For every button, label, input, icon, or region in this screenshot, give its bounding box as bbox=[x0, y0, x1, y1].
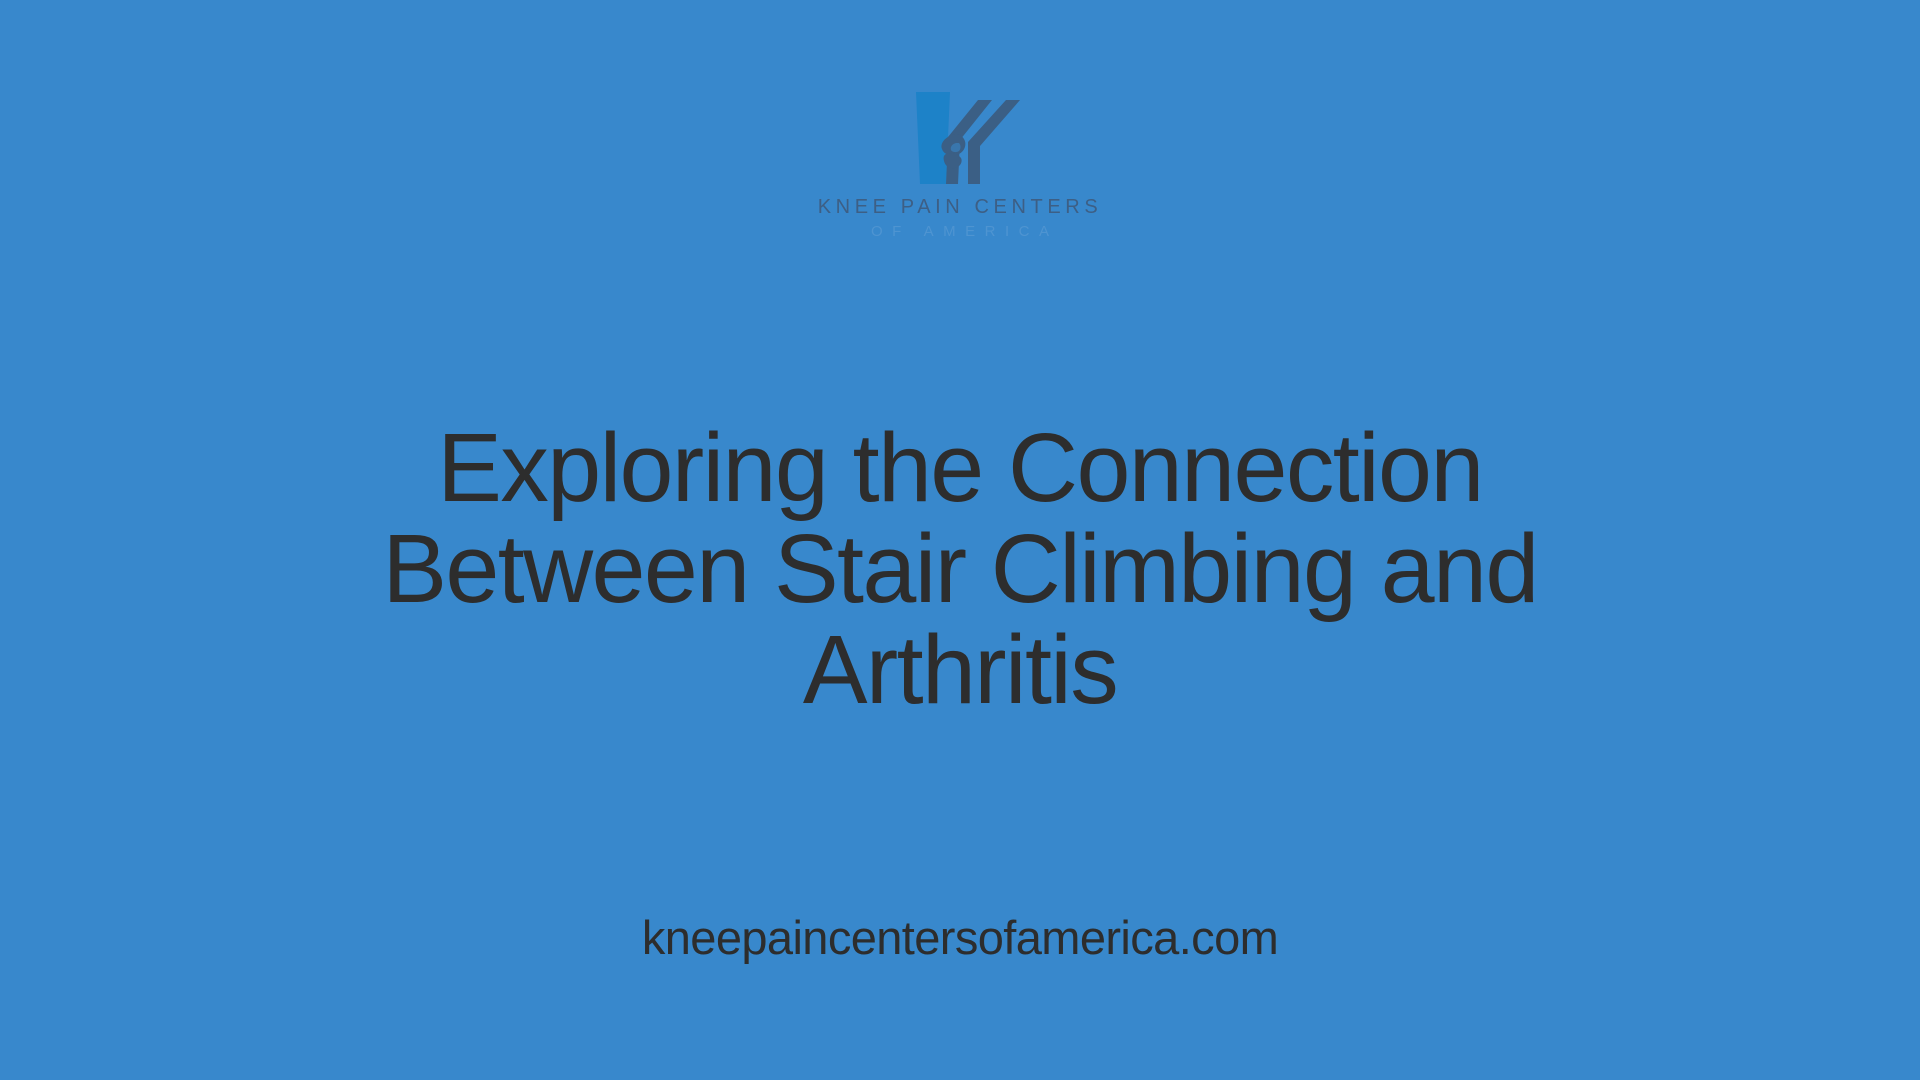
footer-url-container: kneepaincentersofamerica.com bbox=[0, 912, 1920, 964]
page-title-container: Exploring the Connection Between Stair C… bbox=[0, 418, 1920, 721]
website-url[interactable]: kneepaincentersofamerica.com bbox=[642, 912, 1278, 964]
brand-logo-lockup: KNEE PAIN CENTERS OF AMERICA bbox=[0, 88, 1920, 239]
logo-subwordmark: OF AMERICA bbox=[861, 224, 1058, 239]
knee-joint-k-logo-icon bbox=[894, 88, 1026, 188]
page-title: Exploring the Connection Between Stair C… bbox=[290, 418, 1630, 721]
logo-wordmark: KNEE PAIN CENTERS bbox=[818, 197, 1103, 217]
title-slide: KNEE PAIN CENTERS OF AMERICA Exploring t… bbox=[0, 0, 1920, 1080]
